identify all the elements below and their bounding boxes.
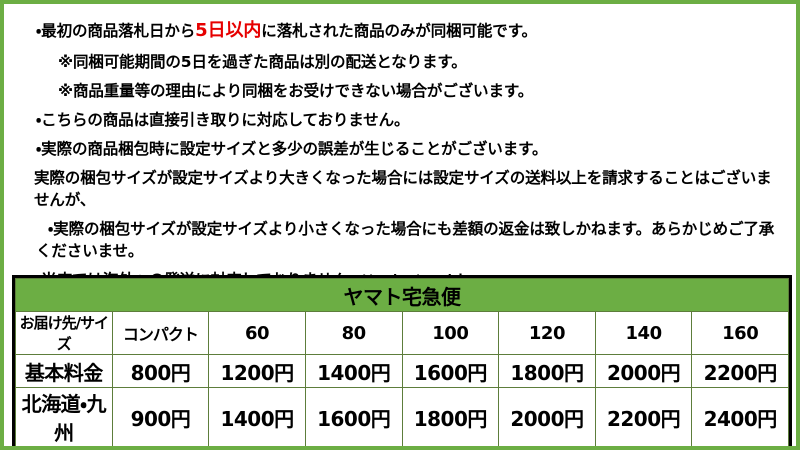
column-header-size-160: 160 bbox=[692, 312, 789, 355]
fare-okinawa-140: 3400円 bbox=[595, 447, 692, 450]
fare-okinawa-100: 2400円 bbox=[402, 447, 499, 450]
notice-line-weight-limit: ※商品重量等の理由により同梱をお受けできない場合がございます。 bbox=[22, 80, 782, 102]
fare-hokkaido-160: 2400円 bbox=[692, 388, 789, 447]
fare-okinawa-160: 3900円 bbox=[692, 447, 789, 450]
notice-line-combine-window: ・最初の商品落札日から5日以内に落札された商品のみが同梱可能です。 bbox=[22, 18, 782, 44]
fare-okinawa-120: 2900円 bbox=[499, 447, 596, 450]
fare-base-140: 2000円 bbox=[595, 355, 692, 388]
fare-okinawa-compact: 900円 bbox=[112, 447, 209, 450]
column-header-destination-size: お届け先/サイズ bbox=[16, 312, 113, 355]
shipping-info-panel: ・最初の商品落札日から5日以内に落札された商品のみが同梱可能です。 ※同梱可能期… bbox=[0, 0, 800, 450]
fare-okinawa-80: 1900円 bbox=[305, 447, 402, 450]
fare-base-80: 1400円 bbox=[305, 355, 402, 388]
fare-hokkaido-80: 1600円 bbox=[305, 388, 402, 447]
fare-hokkaido-120: 2000円 bbox=[499, 388, 596, 447]
column-header-size-120: 120 bbox=[499, 312, 596, 355]
column-header-size-60: 60 bbox=[209, 312, 306, 355]
column-header-compact: コンパクト bbox=[112, 312, 209, 355]
row-label-okinawa: 沖縄県 bbox=[16, 447, 113, 450]
notice-line-no-refund: ・実際の梱包サイズが設定サイズより小さくなった場合にも差額の返金は致しかねます。… bbox=[22, 218, 782, 262]
table-row: 北海道・九州 900円 1400円 1600円 1800円 2000円 2200… bbox=[16, 388, 789, 447]
fare-base-160: 2200円 bbox=[692, 355, 789, 388]
notice-text-prefix: ・最初の商品落札日から bbox=[36, 22, 195, 40]
shipping-rate-table: ヤマト宅急便 お届け先/サイズ コンパクト 60 80 100 120 140 … bbox=[15, 278, 789, 450]
fare-okinawa-60: 1400円 bbox=[209, 447, 306, 450]
table-row: 沖縄県 900円 1400円 1900円 2400円 2900円 3400円 3… bbox=[16, 447, 789, 450]
table-row: 基本料金 800円 1200円 1400円 1600円 1800円 2000円 … bbox=[16, 355, 789, 388]
row-label-base-fare: 基本料金 bbox=[16, 355, 113, 388]
fare-base-120: 1800円 bbox=[499, 355, 596, 388]
column-header-size-80: 80 bbox=[305, 312, 402, 355]
notice-line-size-discrepancy: ・実際の商品梱包時に設定サイズと多少の誤差が生じることがございます。 bbox=[22, 138, 782, 160]
fare-base-60: 1200円 bbox=[209, 355, 306, 388]
notice-highlight-deadline: 5日以内 bbox=[195, 20, 261, 41]
table-row-column-headers: お届け先/サイズ コンパクト 60 80 100 120 140 160 bbox=[16, 312, 789, 355]
fare-hokkaido-100: 1800円 bbox=[402, 388, 499, 447]
fare-hokkaido-compact: 900円 bbox=[112, 388, 209, 447]
table-row-carrier: ヤマト宅急便 bbox=[16, 279, 789, 312]
row-label-hokkaido-kyushu: 北海道・九州 bbox=[16, 388, 113, 447]
shipping-notice-block: ・最初の商品落札日から5日以内に落札された商品のみが同梱可能です。 ※同梱可能期… bbox=[8, 8, 796, 298]
fare-base-compact: 800円 bbox=[112, 355, 209, 388]
carrier-name-banner: ヤマト宅急便 bbox=[16, 279, 789, 312]
shipping-rate-table-container: ヤマト宅急便 お届け先/サイズ コンパクト 60 80 100 120 140 … bbox=[12, 275, 792, 450]
notice-line-no-extra-charge: 実際の梱包サイズが設定サイズより大きくなった場合には設定サイズの送料以上を請求す… bbox=[22, 167, 782, 211]
column-header-size-140: 140 bbox=[595, 312, 692, 355]
notice-text-suffix: に落札された商品のみが同梱可能です。 bbox=[261, 22, 537, 40]
notice-line-no-pickup: ・こちらの商品は直接引き取りに対応しておりません。 bbox=[22, 109, 782, 131]
notice-line-past-window: ※同梱可能期間の5日を過ぎた商品は別の配送となります。 bbox=[22, 51, 782, 73]
fare-base-100: 1600円 bbox=[402, 355, 499, 388]
fare-hokkaido-60: 1400円 bbox=[209, 388, 306, 447]
column-header-size-100: 100 bbox=[402, 312, 499, 355]
fare-hokkaido-140: 2200円 bbox=[595, 388, 692, 447]
